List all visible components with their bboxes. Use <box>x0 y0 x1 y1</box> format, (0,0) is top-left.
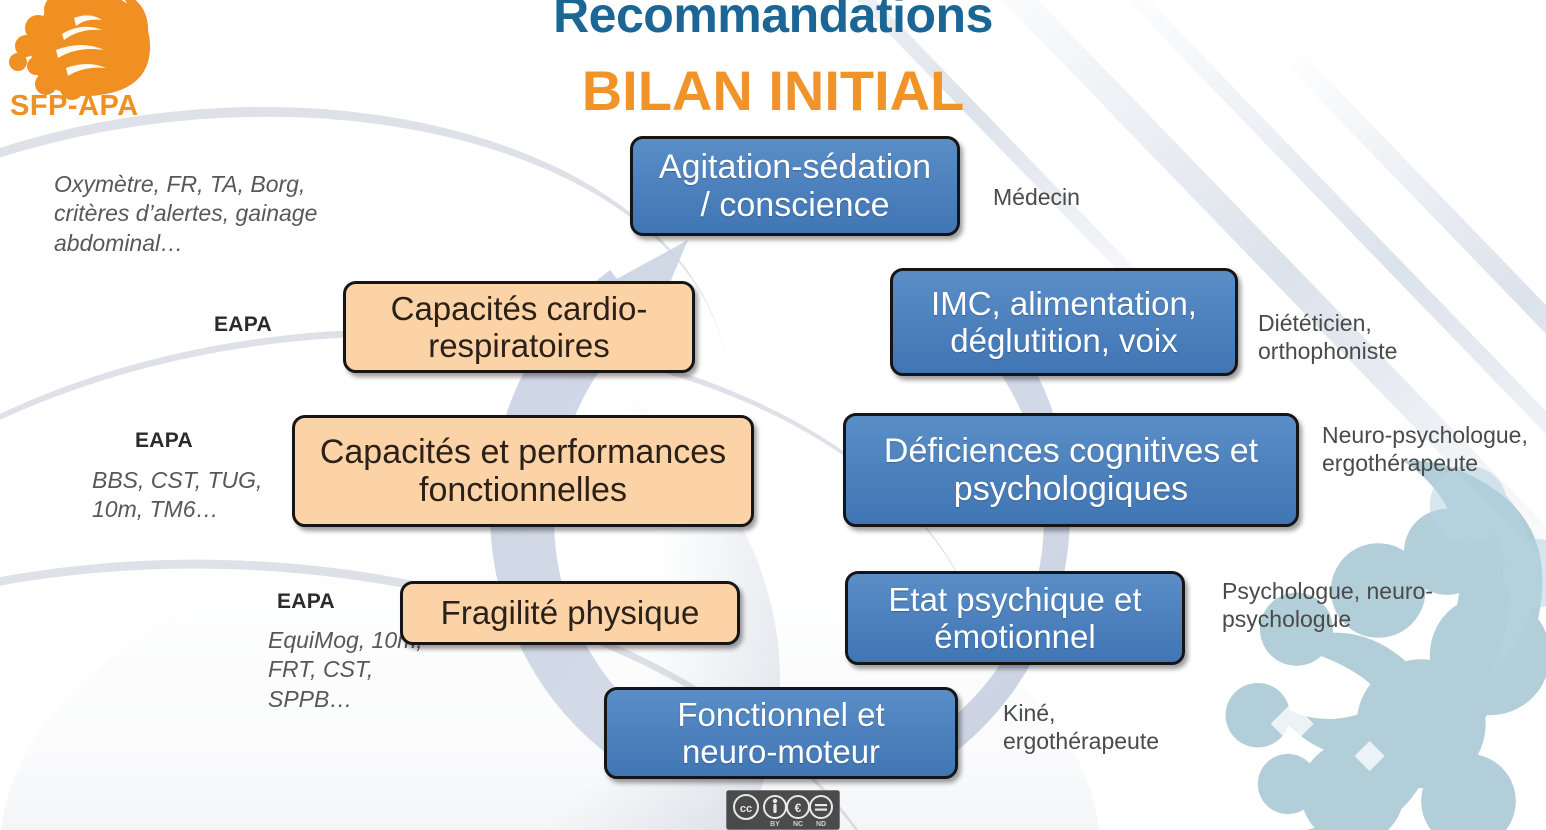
professional-dieteticien-line2: orthophoniste <box>1258 338 1498 366</box>
box-capacites-performances-fonctionnelles[interactable]: Capacités et performances fonctionnelles <box>292 415 754 527</box>
box-cardio-line2: respiratoires <box>360 327 678 364</box>
svg-text:cc: cc <box>740 803 752 815</box>
box-psychique-line2: émotionnel <box>862 618 1168 655</box>
professional-kine: Kiné, ergothérapeute <box>1003 700 1233 755</box>
page-title: Recommandations <box>0 0 1546 44</box>
note-cardio-tests: Oxymètre, FR, TA, Borg, critères d’alert… <box>54 170 344 258</box>
professional-psychologue-line2: psychologue <box>1222 606 1472 634</box>
professional-psychologue: Psychologue, neuro- psychologue <box>1222 578 1472 633</box>
cc-nd-label: ND <box>816 821 826 828</box>
professional-dieteticien-line1: Diététicien, <box>1258 310 1498 338</box>
box-psychique-line1: Etat psychique et <box>862 581 1168 618</box>
label-eapa-functional: EAPA <box>135 429 193 453</box>
box-performances-line2: fonctionnelles <box>309 471 737 509</box>
box-etat-psychique[interactable]: Etat psychique et émotionnel <box>845 571 1185 665</box>
box-imc-line1: IMC, alimentation, <box>907 285 1221 322</box>
box-cardio-line1: Capacités cardio- <box>360 290 678 327</box>
box-fragilite-physique[interactable]: Fragilité physique <box>400 581 740 645</box>
professional-kine-line1: Kiné, <box>1003 700 1233 728</box>
box-deficiences-line2: psychologiques <box>860 470 1282 508</box>
professional-medecin: Médecin <box>993 184 1213 212</box>
page-subtitle: BILAN INITIAL <box>0 58 1546 123</box>
box-imc-alimentation[interactable]: IMC, alimentation, déglutition, voix <box>890 268 1238 376</box>
box-fragilite-label: Fragilité physique <box>417 594 723 631</box>
professional-kine-line2: ergothérapeute <box>1003 728 1233 756</box>
slide-canvas: SFP-APA Recommandations BILAN INITIAL Ox… <box>0 0 1546 830</box>
note-functional-tests: BBS, CST, TUG, 10m, TM6… <box>92 466 292 525</box>
box-fonctionnel-line1: Fonctionnel et <box>621 696 941 733</box>
box-agitation-line1: Agitation-sédation <box>647 148 943 186</box>
box-agitation-line2: / conscience <box>647 186 943 224</box>
box-performances-line1: Capacités et performances <box>309 433 737 471</box>
professional-neuropsy-line2: ergothérapeute <box>1322 450 1546 478</box>
professional-dieteticien: Diététicien, orthophoniste <box>1258 310 1498 365</box>
box-deficiences-cognitives[interactable]: Déficiences cognitives et psychologiques <box>843 413 1299 527</box>
label-eapa-frailty: EAPA <box>277 590 335 614</box>
creative-commons-badge[interactable]: cc € BY NC ND <box>726 790 840 830</box>
svg-text:€: € <box>795 801 802 815</box>
label-eapa-cardio: EAPA <box>214 313 272 337</box>
box-fonctionnel-neuro-moteur[interactable]: Fonctionnel et neuro-moteur <box>604 687 958 779</box>
box-agitation-sedation[interactable]: Agitation-sédation / conscience <box>630 136 960 236</box>
professional-neuropsy-line1: Neuro-psychologue, <box>1322 422 1546 450</box>
professional-neuropsychologue: Neuro-psychologue, ergothérapeute <box>1322 422 1546 477</box>
box-deficiences-line1: Déficiences cognitives et <box>860 432 1282 470</box>
cc-by-label: BY <box>770 821 780 828</box>
box-imc-line2: déglutition, voix <box>907 322 1221 359</box>
box-fonctionnel-line2: neuro-moteur <box>621 733 941 770</box>
box-capacites-cardio-respiratoires[interactable]: Capacités cardio- respiratoires <box>343 281 695 373</box>
cc-by-nc-nd-icon: cc € BY NC ND <box>727 791 839 829</box>
cc-nc-label: NC <box>793 821 803 828</box>
professional-psychologue-line1: Psychologue, neuro- <box>1222 578 1472 606</box>
